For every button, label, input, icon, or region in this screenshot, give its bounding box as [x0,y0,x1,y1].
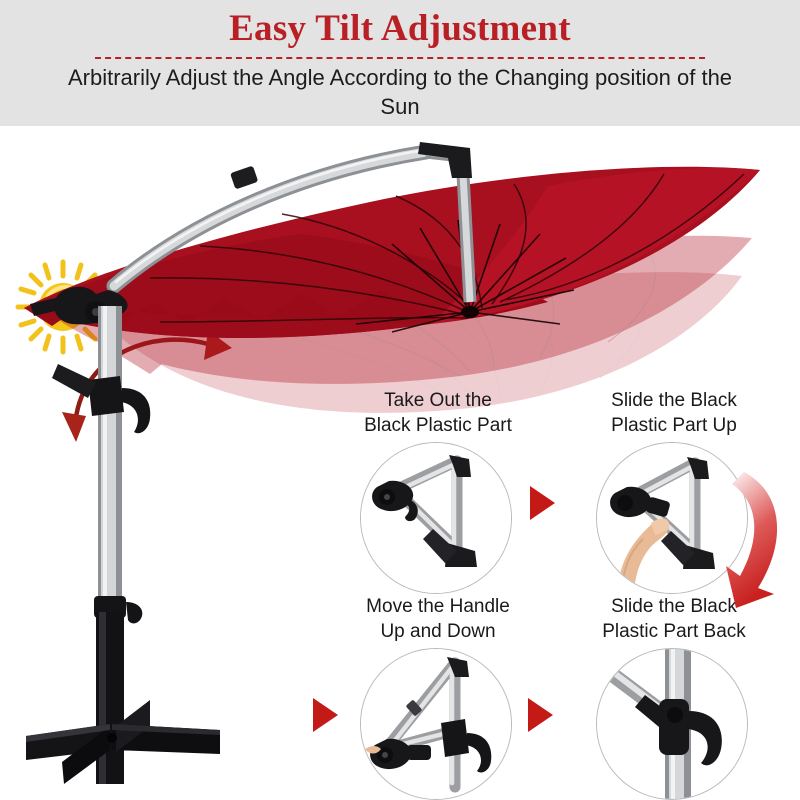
step-figure-1 [360,442,512,594]
step-connector-arrow-2 [313,698,338,732]
step-caption-1-line2: Black Plastic Part [364,415,512,436]
step-figure-3 [360,648,512,800]
umbrella-base [26,612,220,784]
step-card-4: Slide the Black Plastic Part Back [568,594,780,800]
header-band: Easy Tilt Adjustment Arbitrarily Adjust … [0,0,800,126]
page-title: Easy Tilt Adjustment [0,6,800,52]
step-caption-2-line2: Plastic Part Up [611,415,737,436]
step-caption-3-line2: Up and Down [380,621,495,642]
step-connector-arrow-3 [528,698,553,732]
step-card-1: Take Out the Black Plastic Part [332,388,544,594]
header-divider [95,57,705,59]
step-caption-3: Move the Handle Up and Down [332,594,544,644]
step-caption-2-line1: Slide the Black [611,390,737,411]
step-figure-4 [596,648,748,800]
infographic-page: Easy Tilt Adjustment Arbitrarily Adjust … [0,0,800,800]
step-caption-3-line1: Move the Handle [366,596,510,617]
step-caption-1: Take Out the Black Plastic Part [332,388,544,438]
step-caption-2: Slide the Black Plastic Part Up [568,388,780,438]
flow-curve-arrow-icon [696,462,800,610]
page-subtitle: Arbitrarily Adjust the Angle According t… [60,63,740,121]
step-caption-1-line1: Take Out the [384,390,492,411]
step-connector-arrow-1 [530,486,555,520]
step-card-3: Move the Handle Up and Down [332,594,544,800]
step-caption-4-line2: Plastic Part Back [602,621,746,642]
